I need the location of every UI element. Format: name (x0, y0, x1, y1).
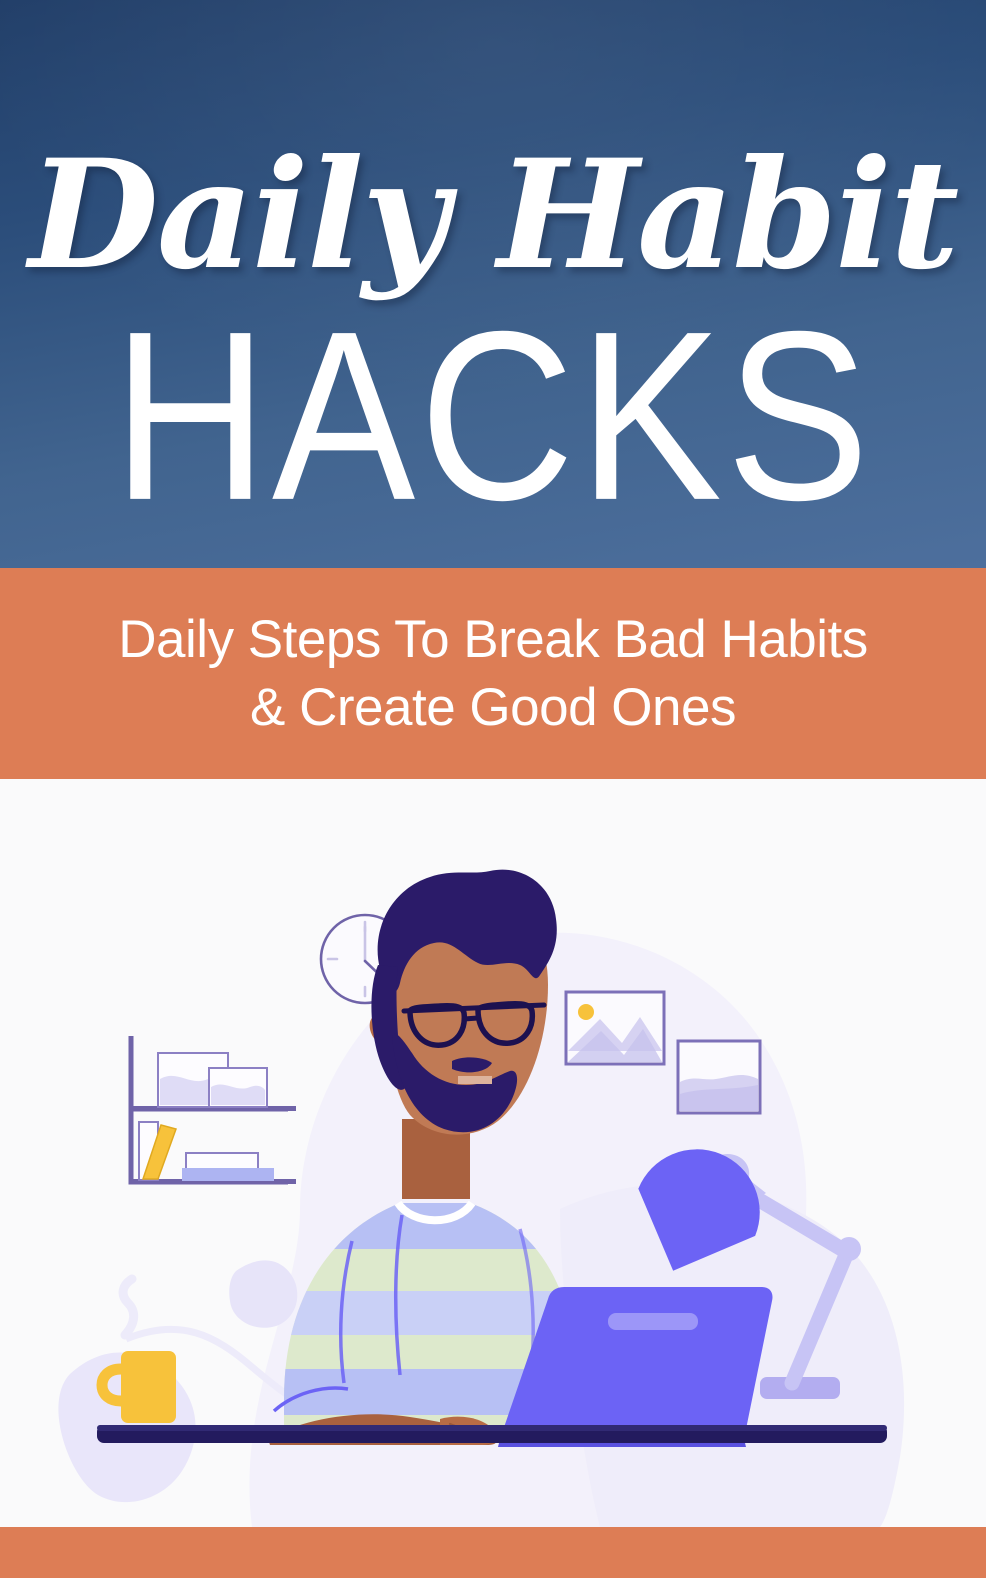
cover-title-caps: HACKS (0, 295, 986, 536)
illustration-panel (0, 779, 986, 1527)
book-cover: Daily Habit HACKS Daily Steps To Break B… (0, 0, 986, 1578)
bookshelf (131, 1036, 296, 1184)
framed-picture-landscape (678, 1041, 760, 1113)
footer-band (0, 1527, 986, 1578)
workspace-illustration (0, 779, 986, 1527)
header-band: Daily Habit HACKS (0, 0, 986, 568)
desk-surface (97, 1425, 887, 1443)
coffee-mug (102, 1279, 176, 1423)
subtitle-band: Daily Steps To Break Bad Habits & Create… (0, 568, 986, 779)
cover-title-script: Daily Habit (0, 140, 986, 290)
framed-picture-mountain (566, 992, 664, 1064)
cover-subtitle: Daily Steps To Break Bad Habits & Create… (78, 606, 907, 742)
